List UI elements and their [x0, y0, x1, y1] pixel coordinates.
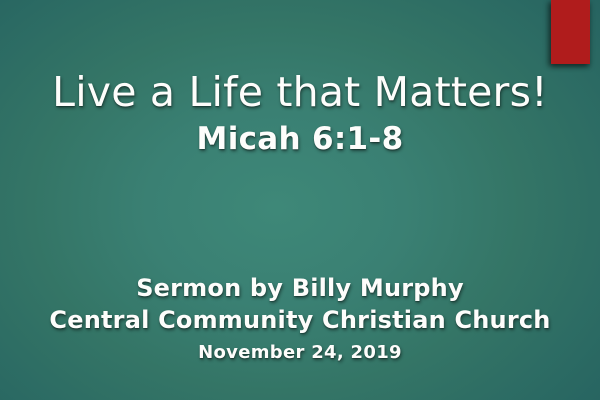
- slide-date: November 24, 2019: [0, 344, 600, 362]
- slide-organization: Central Community Christian Church: [0, 308, 600, 332]
- slide-speaker: Sermon by Billy Murphy: [0, 276, 600, 300]
- slide-text-layer: Live a Life that Matters! Micah 6:1-8 Se…: [0, 0, 600, 400]
- slide-title: Live a Life that Matters!: [0, 72, 600, 113]
- presentation-slide: Live a Life that Matters! Micah 6:1-8 Se…: [0, 0, 600, 400]
- slide-scripture-reference: Micah 6:1-8: [0, 124, 600, 155]
